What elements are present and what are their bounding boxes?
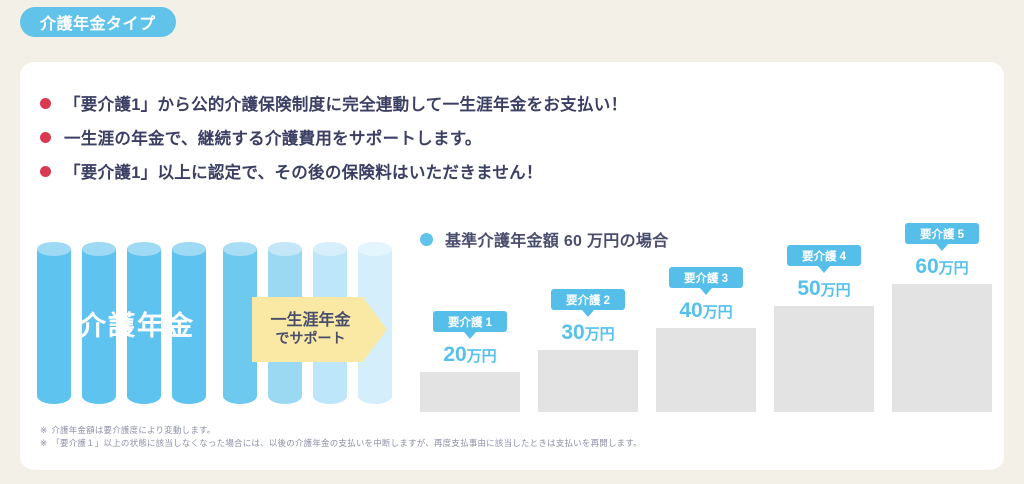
list-item: 一生涯の年金で、継続する介護費用をサポートします。 <box>40 122 627 152</box>
list-item: 「要介護1」以上に認定で、その後の保険料はいただきません！ <box>40 156 627 186</box>
bar-category-badge: 要介護 4 <box>787 245 861 266</box>
bar-category-badge: 要介護 5 <box>905 223 979 244</box>
bar-column: 要介護 5 60万円 <box>892 223 992 412</box>
bar-rect <box>420 372 520 412</box>
bullet-text: 「要介護1」から公的介護保険制度に完全連動して一生涯年金をお支払い！ <box>64 91 627 115</box>
bar-value-label: 30万円 <box>538 321 638 345</box>
bar-column: 要介護 4 50万円 <box>774 245 874 412</box>
bar-column: 要介護 3 40万円 <box>656 267 756 412</box>
list-item: 「要介護1」から公的介護保険制度に完全連動して一生涯年金をお支払い！ <box>40 88 627 118</box>
lifetime-support-banner: 一生涯年金 でサポート <box>252 297 387 362</box>
banner-line-2: でサポート <box>276 330 346 347</box>
bar-rect <box>656 328 756 412</box>
bar-category-label: 要介護 2 <box>566 292 610 308</box>
pension-cylinder-illustration: 介護年金 一生涯年金 でサポート <box>37 242 417 417</box>
bullet-dot-icon <box>40 132 51 143</box>
footnote-mark: ※ <box>40 425 47 435</box>
bar-category-label: 要介護 4 <box>802 248 846 264</box>
bar-value-label: 20万円 <box>420 343 520 367</box>
bullet-text: 一生涯の年金で、継続する介護費用をサポートします。 <box>64 125 482 149</box>
page-title-badge: 介護年金タイプ <box>20 7 176 37</box>
bullet-dot-icon <box>40 166 51 177</box>
bar-category-label: 要介護 1 <box>448 314 492 330</box>
footnote: ※介護年金額は要介護度により変動します。 <box>40 424 642 437</box>
banner-line-1: 一生涯年金 <box>270 312 350 330</box>
cylinder-bar <box>37 242 71 410</box>
bar-value-label: 50万円 <box>774 277 874 301</box>
bar-category-badge: 要介護 1 <box>433 311 507 332</box>
bullet-dot-icon <box>40 98 51 109</box>
footnote-mark: ※ <box>40 438 47 448</box>
bar-category-label: 要介護 3 <box>684 270 728 286</box>
bar-rect <box>892 284 992 412</box>
pension-overlay-label: 介護年金 <box>79 304 195 343</box>
bar-column: 要介護 1 20万円 <box>420 311 520 412</box>
bar-category-label: 要介護 5 <box>920 226 964 242</box>
footnote: ※「要介護１」以上の状態に該当しなくなった場合には、以後の介護年金の支払いを中断… <box>40 437 642 450</box>
bar-value-label: 40万円 <box>656 299 756 323</box>
bar-rect <box>774 306 874 412</box>
cylinder-bar <box>223 242 257 410</box>
care-pension-bar-chart: 要介護 1 20万円 要介護 2 30万円 要介護 3 40万円 要介護 4 5… <box>420 222 1004 412</box>
footnote-text: 介護年金額は要介護度により変動します。 <box>51 425 215 435</box>
footnote-text: 「要介護１」以上の状態に該当しなくなった場合には、以後の介護年金の支払いを中断し… <box>51 438 642 448</box>
feature-bullet-list: 「要介護1」から公的介護保険制度に完全連動して一生涯年金をお支払い！ 一生涯の年… <box>40 88 627 190</box>
bar-rect <box>538 350 638 412</box>
page-title-text: 介護年金タイプ <box>40 10 156 34</box>
bar-column: 要介護 2 30万円 <box>538 289 638 412</box>
bar-category-badge: 要介護 3 <box>669 267 743 288</box>
content-card: 「要介護1」から公的介護保険制度に完全連動して一生涯年金をお支払い！ 一生涯の年… <box>20 62 1004 470</box>
footnote-list: ※介護年金額は要介護度により変動します。 ※「要介護１」以上の状態に該当しなくな… <box>40 424 642 450</box>
bar-value-label: 60万円 <box>892 255 992 279</box>
bullet-text: 「要介護1」以上に認定で、その後の保険料はいただきません！ <box>64 159 543 183</box>
bar-category-badge: 要介護 2 <box>551 289 625 310</box>
